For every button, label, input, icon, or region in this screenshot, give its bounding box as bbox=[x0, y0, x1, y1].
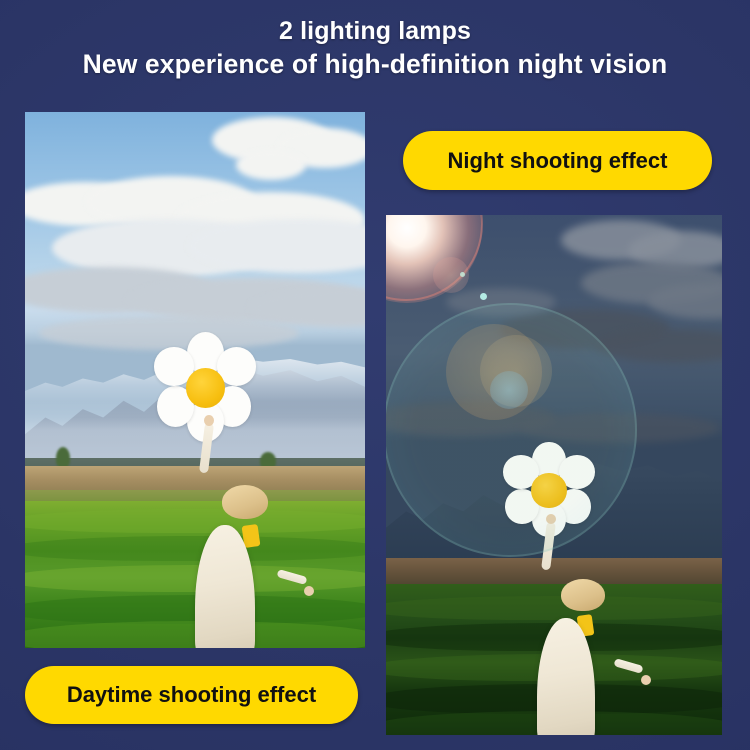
night-shooting-badge[interactable]: Night shooting effect bbox=[403, 131, 712, 190]
dry-field-band bbox=[386, 558, 722, 587]
title-line-1: 2 lighting lamps bbox=[0, 16, 750, 48]
straw-hat bbox=[561, 579, 605, 611]
cloud bbox=[236, 150, 306, 180]
lens-flare-orb bbox=[490, 371, 528, 409]
grass-row bbox=[25, 536, 365, 561]
straw-hat bbox=[222, 485, 268, 519]
grass-row bbox=[25, 509, 365, 533]
daytime-badge-label: Daytime shooting effect bbox=[67, 682, 316, 708]
title-line-2: New experience of high-definition night … bbox=[0, 48, 750, 81]
night-photo bbox=[386, 215, 722, 735]
night-badge-label: Night shooting effect bbox=[448, 148, 668, 174]
grass-row bbox=[386, 596, 722, 620]
promo-banner: 2 lighting lamps New experience of high-… bbox=[0, 0, 750, 750]
daytime-shooting-badge[interactable]: Daytime shooting effect bbox=[25, 666, 358, 724]
daytime-photo bbox=[25, 112, 365, 648]
hand bbox=[204, 415, 214, 426]
page-title: 2 lighting lamps New experience of high-… bbox=[0, 16, 750, 81]
